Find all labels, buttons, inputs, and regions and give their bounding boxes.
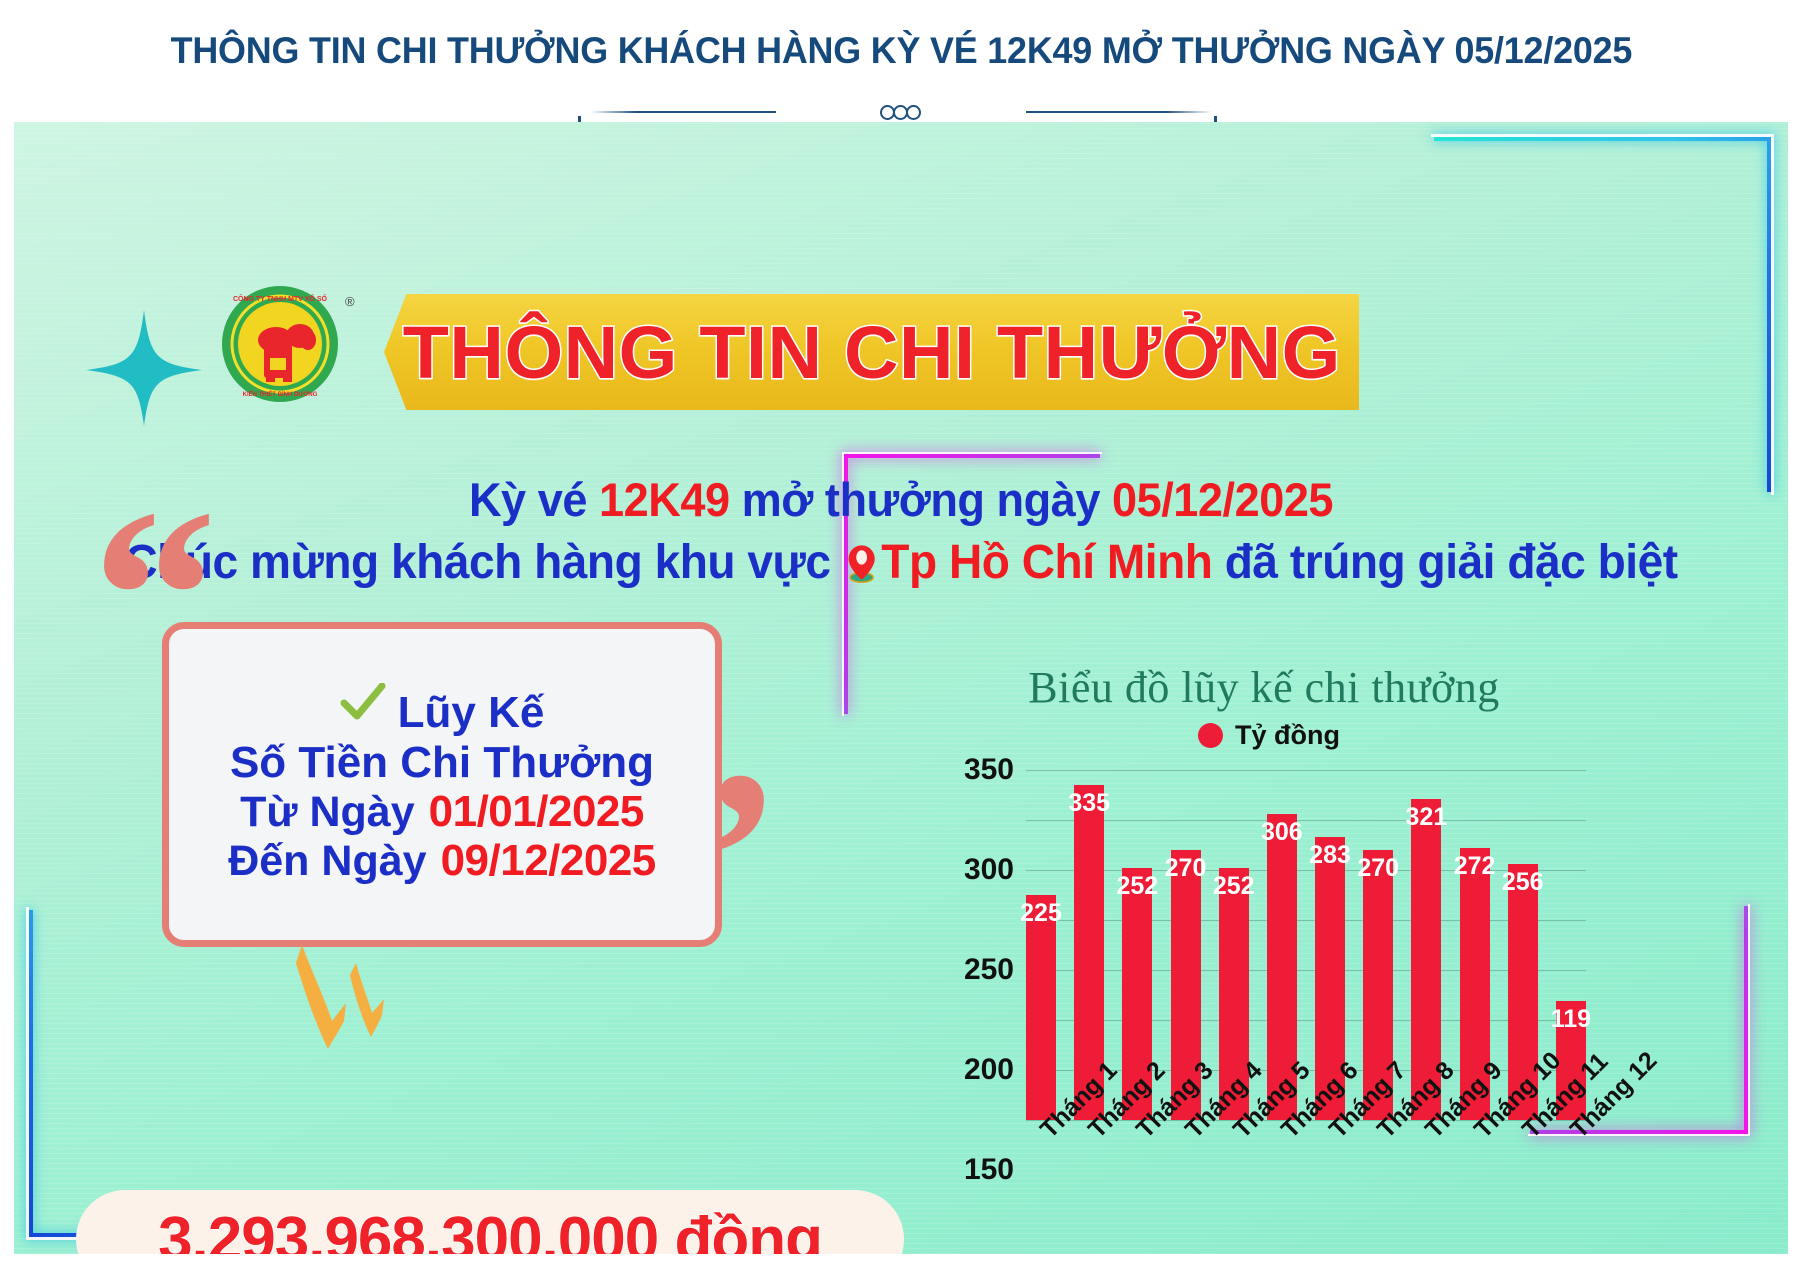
chart-y-tick: 100 [964,1253,1014,1254]
draw-date: 05/12/2025 [1112,473,1333,526]
neon-frame-top-right [1434,134,1774,492]
subtitle-line-2: Chúc mừng khách hàng khu vực Tp Hồ Chí M… [49,535,1752,596]
company-logo: CÔNG TY TNHH MTV XỔ SỐ KIẾN THIẾT BÌNH D… [204,284,356,404]
chart-bar-value-label: 119 [1551,1005,1591,1034]
chart-bar-value-label: 270 [1165,854,1207,883]
chart-y-tick: 250 [964,953,1014,987]
chart-bar-value-label: 321 [1406,803,1448,832]
chart-bar-value-label: 252 [1116,872,1158,901]
chart-y-tick: 200 [964,1053,1014,1087]
banner-title-text: THÔNG TIN CHI THƯỞNG [402,310,1340,395]
location-pin-icon [847,541,878,596]
card-line-2: Số Tiền Chi Thưởng [230,738,654,787]
header-divider [0,100,1802,122]
chart-legend: Tỷ đồng [1054,720,1484,751]
total-amount-text: 3.293.968.300.000 đồng [158,1204,822,1255]
divider-dots-left [578,109,589,115]
chart-y-tick: 300 [964,853,1014,887]
card-line-4: Đến Ngày 09/12/2025 [228,836,656,885]
legend-marker-icon [1198,723,1223,748]
card-line-4-value: 09/12/2025 [441,836,656,885]
divider-dots-right [1214,109,1225,115]
subtitle1-part-b: mở thưởng ngày [730,473,1112,526]
chart-bar-value-label: 225 [1020,899,1062,928]
check-icon [340,683,386,733]
subtitle1-part-a: Kỳ vé [469,473,599,526]
chart-bar-value-label: 283 [1309,841,1351,870]
poster-page: THÔNG TIN CHI THƯỞNG KHÁCH HÀNG KỲ VÉ 12… [0,0,1802,1268]
subtitle2-part-a: Chúc mừng khách hàng khu vực [124,536,843,589]
chart-y-tick: 150 [964,1153,1014,1187]
chart-bar-column: 225 [1026,770,1056,1120]
divider-line-right [1026,111,1212,113]
ticket-code: 12K49 [599,473,730,526]
legend-label: Tỷ đồng [1235,720,1340,751]
summary-card: Lũy Kế Số Tiền Chi Thưởng Từ Ngày 01/01/… [162,622,722,947]
chart-bar: 225 [1026,895,1056,1120]
chart-bar-value-label: 270 [1357,854,1399,883]
chart-x-axis-labels: Tháng 1Tháng 2Tháng 3Tháng 4Tháng 5Tháng… [1026,1124,1586,1244]
svg-text:®: ® [345,294,355,309]
total-amount-pill: 3.293.968.300.000 đồng [76,1190,904,1254]
page-title: THÔNG TIN CHI THƯỞNG KHÁCH HÀNG KỲ VÉ 12… [170,30,1632,72]
card-line-1-text: Lũy Kế [398,688,545,737]
chart-title: Biểu đồ lũy kế chi thưởng [944,662,1584,713]
divider-line-left [590,111,776,113]
chart-bar-value-label: 306 [1261,818,1303,847]
chart-bar-value-label: 252 [1213,872,1255,901]
down-arrows-icon [284,937,414,1067]
chart-bar-value-label: 335 [1068,789,1110,818]
divider-rings-ornament-icon [880,102,922,122]
banner-title-plate: THÔNG TIN CHI THƯỞNG [384,294,1359,410]
subtitle2-part-b: đã trúng giải đặc biệt [1212,536,1677,589]
card-line-3-value: 01/01/2025 [429,787,644,836]
sparkle-icon [84,302,204,432]
chart-y-tick: 350 [964,753,1014,787]
card-line-3: Từ Ngày 01/01/2025 [240,787,644,836]
region-name: Tp Hồ Chí Minh [881,536,1212,589]
card-line-4-label: Đến Ngày [228,837,426,885]
svg-text:KIẾN THIẾT BÌNH DƯƠNG: KIẾN THIẾT BÌNH DƯƠNG [243,390,318,398]
subtitle-line-1: Kỳ vé 12K49 mở thưởng ngày 05/12/2025 [49,472,1752,527]
chart-bar-value-label: 272 [1454,852,1496,881]
card-line-3-label: Từ Ngày [240,788,415,836]
card-line-1: Lũy Kế [340,687,545,737]
page-header: THÔNG TIN CHI THƯỞNG KHÁCH HÀNG KỲ VÉ 12… [0,0,1802,102]
chart-bar-value-label: 256 [1502,868,1544,897]
poster-canvas: CÔNG TY TNHH MTV XỔ SỐ KIẾN THIẾT BÌNH D… [14,122,1788,1254]
